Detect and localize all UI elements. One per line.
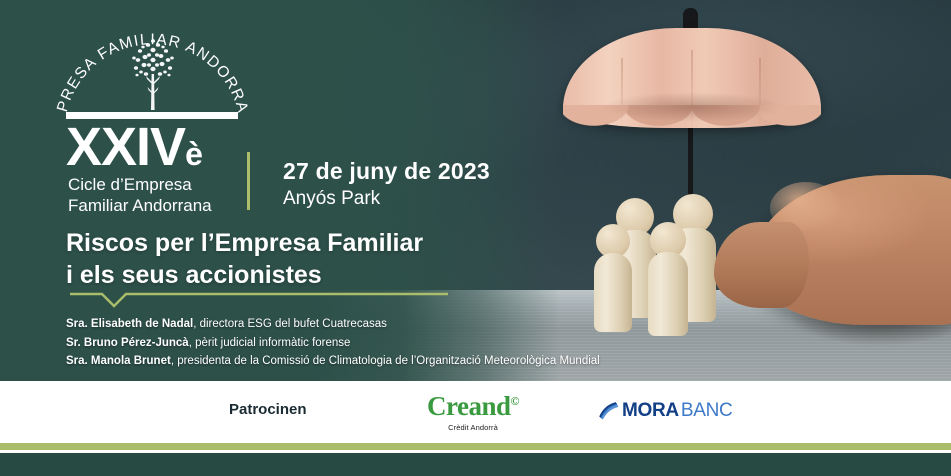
speaker-name: Sr. Bruno Pérez-Juncà <box>66 337 189 349</box>
cycle-subtitle-line2: Familiar Andorrana <box>68 196 212 217</box>
edition-number: XXIVè <box>66 120 202 174</box>
speaker-role: , pèrit judicial informàtic forense <box>189 337 351 349</box>
hand-finger <box>714 222 809 308</box>
umbrella-shadow <box>600 92 785 122</box>
speaker-role: , presidenta de la Comissió de Climatolo… <box>171 355 600 367</box>
cycle-subtitle: Cicle d’Empresa Familiar Andorrana <box>68 175 212 216</box>
copyright-icon: © <box>511 394 519 408</box>
sponsor-creand-logo[interactable]: Creand© Crèdit Andorrà <box>413 393 533 432</box>
bottom-green-bar <box>0 453 951 476</box>
page-title: Riscos per l’Empresa Familiar i els seus… <box>66 228 423 291</box>
event-venue: Anyós Park <box>283 188 380 210</box>
tree-icon <box>132 39 174 110</box>
morabanc-wordmark-banc: BANC <box>681 400 733 422</box>
wave-icon <box>598 401 620 421</box>
morabanc-wordmark-mora: MORA <box>622 400 679 422</box>
rule-notch-line <box>70 294 448 306</box>
sponsor-morabanc-logo[interactable]: MORABANC <box>598 400 732 422</box>
speaker-list: Sra. Elisabeth de Nadal, directora ESG d… <box>66 315 706 371</box>
umbrella-knob-icon <box>683 8 698 30</box>
event-poster: EMPRESA FAMILIAR ANDORRANA <box>0 0 951 476</box>
speaker-role: , directora ESG del bufet Cuatrecasas <box>193 318 387 330</box>
vertical-divider <box>247 152 250 210</box>
list-item: Sra. Elisabeth de Nadal, directora ESG d… <box>66 315 706 334</box>
logo-arc-text: EMPRESA FAMILIAR ANDORRANA <box>50 12 251 115</box>
list-item: Sra. Manola Brunet, presidenta de la Com… <box>66 352 706 371</box>
olive-stripe <box>0 443 951 450</box>
creand-wordmark: Creand <box>427 391 511 421</box>
speaker-name: Sra. Manola Brunet <box>66 355 171 367</box>
edition-roman: XXIV <box>66 117 185 177</box>
cycle-subtitle-line1: Cicle d’Empresa <box>68 175 212 196</box>
association-logo: EMPRESA FAMILIAR ANDORRANA <box>50 12 255 122</box>
creand-tagline: Crèdit Andorrà <box>413 423 533 432</box>
event-date: 27 de juny de 2023 <box>283 158 490 185</box>
page-title-line1: Riscos per l’Empresa Familiar <box>66 228 423 260</box>
decorative-rule <box>62 286 452 308</box>
list-item: Sr. Bruno Pérez-Juncà, pèrit judicial in… <box>66 334 706 353</box>
logo-svg: EMPRESA FAMILIAR ANDORRANA <box>50 12 255 122</box>
speaker-name: Sra. Elisabeth de Nadal <box>66 318 193 330</box>
edition-suffix: è <box>185 136 202 172</box>
sponsors-label: Patrocinen <box>229 401 307 418</box>
